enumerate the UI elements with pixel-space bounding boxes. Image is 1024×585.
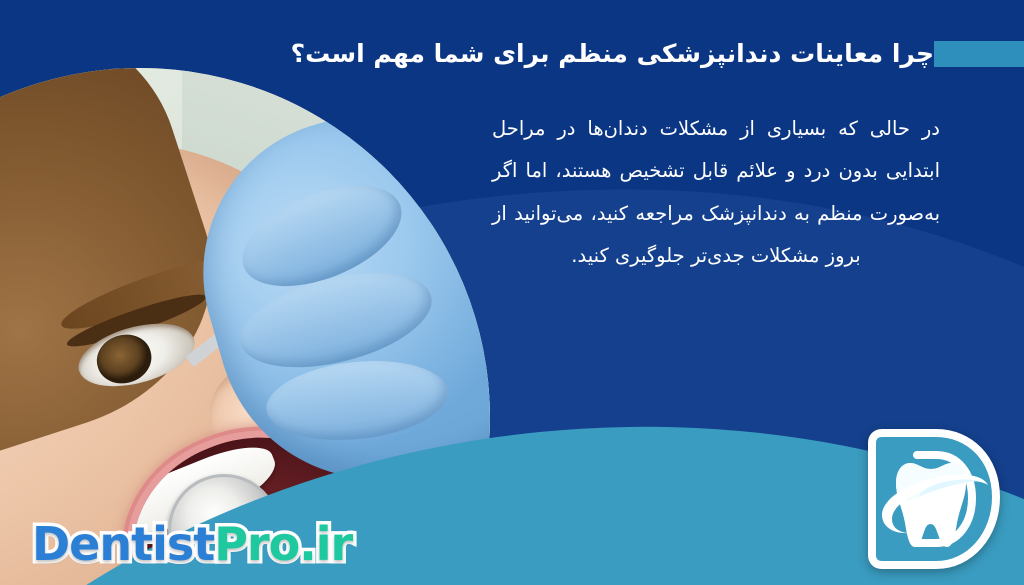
headline-row: چرا معاینات دندانپزشکی منظم برای شما مهم… xyxy=(277,38,1024,69)
brand-wordmark[interactable]: DentistPro.ir xyxy=(32,517,352,571)
dental-checkup-banner: چرا معاینات دندانپزشکی منظم برای شما مهم… xyxy=(0,0,1024,585)
page-title: چرا معاینات دندانپزشکی منظم برای شما مهم… xyxy=(277,38,934,69)
wordmark-part-dentist: Dentist xyxy=(32,517,214,571)
body-paragraph: در حالی که بسیاری از مشکلات دندان‌ها در … xyxy=(492,108,940,277)
wordmark-part-proir: Pro.ir xyxy=(214,517,352,571)
title-accent-bar xyxy=(934,41,1024,67)
dentistpro-logo-tooth-in-d[interactable] xyxy=(860,419,1010,579)
